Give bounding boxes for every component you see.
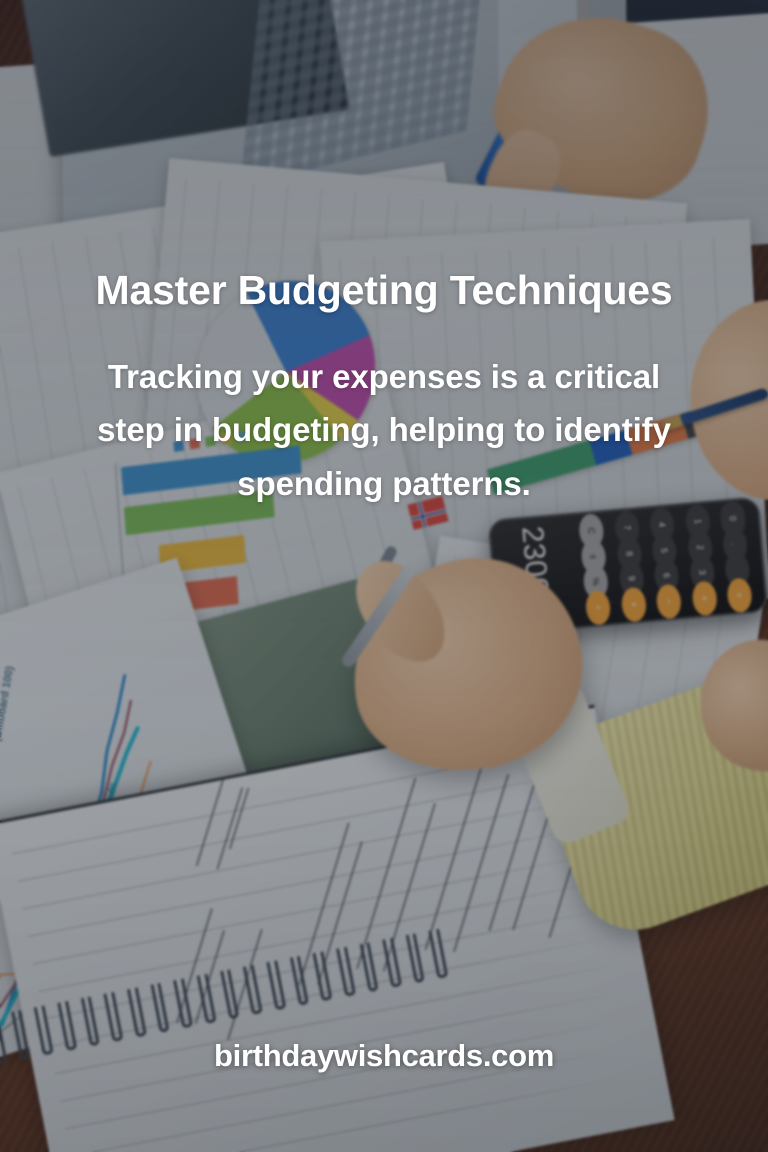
pinterest-card: United States (Billboard 100) Netherland… — [0, 0, 768, 1152]
text-overlay: Master Budgeting Techniques Tracking you… — [0, 0, 768, 1152]
page-subtitle: Tracking your expenses is a critical ste… — [90, 350, 678, 510]
site-watermark: birthdaywishcards.com — [0, 1038, 768, 1074]
page-title: Master Budgeting Techniques — [0, 268, 768, 313]
